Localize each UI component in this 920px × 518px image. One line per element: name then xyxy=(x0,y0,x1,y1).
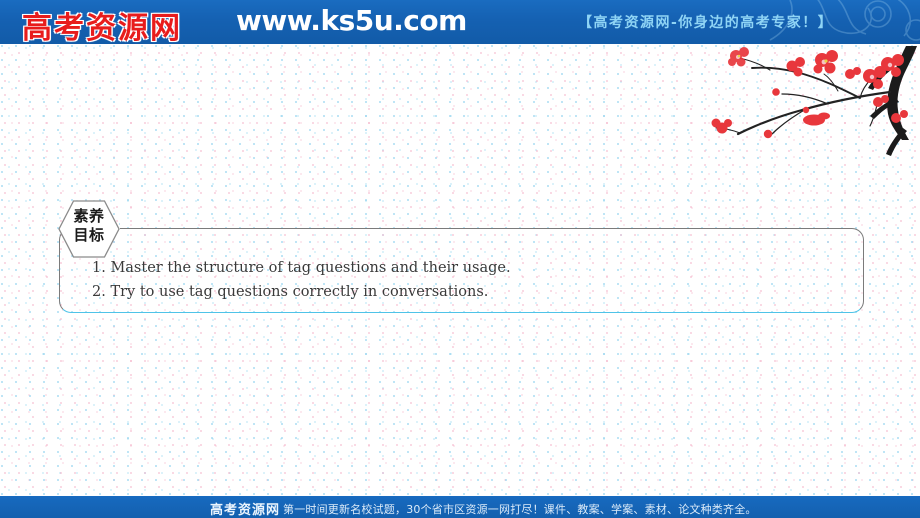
badge-label: 素养 目标 xyxy=(62,207,116,245)
list-item: 1. Master the structure of tag questions… xyxy=(92,256,511,280)
site-logo-text: 高考资源网 xyxy=(22,3,182,44)
footer-tagline: 第一时间更新名校试题，30个省市区资源一网打尽！课件、教案、学案、素材、论文种类… xyxy=(283,501,757,517)
footer-logo-text: 高考资源网 xyxy=(210,499,280,518)
slide-page: 高考资源网 www.ks5u.com 【高考资源网-你身边的高考专家！】 xyxy=(0,0,920,518)
footer-bar: 高考资源网 第一时间更新名校试题，30个省市区资源一网打尽！课件、教案、学案、素… xyxy=(0,496,920,518)
badge-label-line1: 素养 xyxy=(62,207,116,226)
site-url-text: www.ks5u.com xyxy=(236,4,467,37)
header-slogan: 【高考资源网-你身边的高考专家！】 xyxy=(578,12,833,32)
goals-list: 1. Master the structure of tag questions… xyxy=(92,256,511,304)
badge-label-line2: 目标 xyxy=(62,226,116,245)
list-item: 2. Try to use tag questions correctly in… xyxy=(92,280,511,304)
header-banner: 高考资源网 www.ks5u.com 【高考资源网-你身边的高考专家！】 xyxy=(0,0,920,44)
